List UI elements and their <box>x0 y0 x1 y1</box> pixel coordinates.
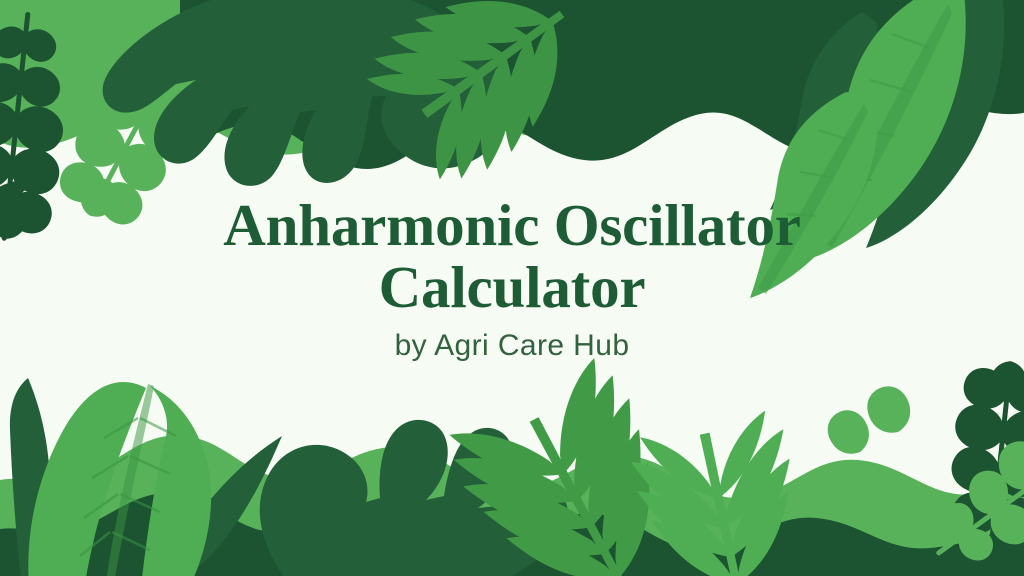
decorative-foliage-border <box>0 0 1024 576</box>
presentation-slide: Anharmonic Oscillator Calculator by Agri… <box>0 0 1024 576</box>
